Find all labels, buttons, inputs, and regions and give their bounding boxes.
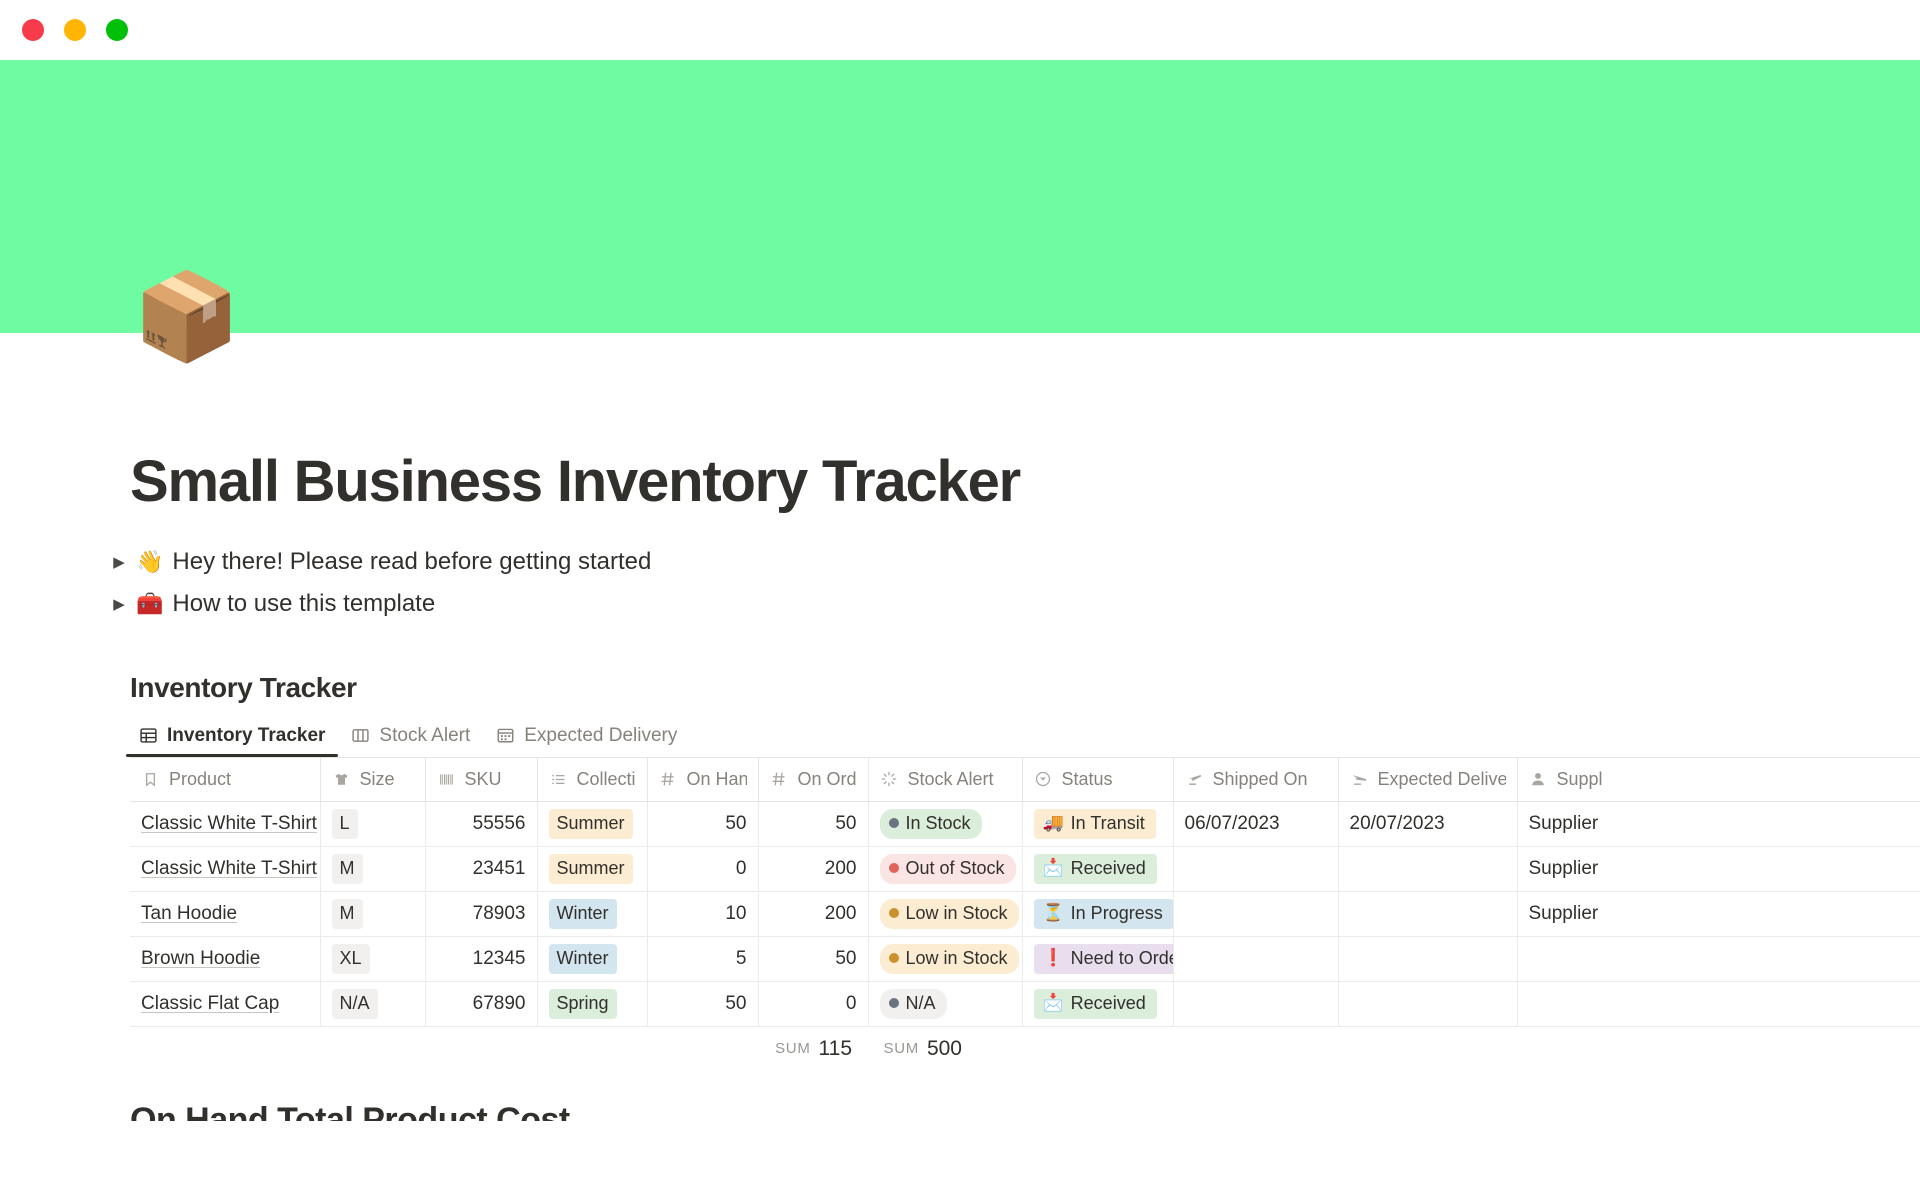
product-link[interactable]: Classic White T-Shirt: [141, 858, 317, 879]
status-dot-icon: [889, 818, 899, 828]
table-row[interactable]: Classic White T-ShirtL55556Summer5050In …: [130, 801, 1920, 846]
cell-on-hand[interactable]: 10: [647, 891, 758, 936]
column-header-label: Size: [360, 769, 395, 790]
stock-alert-tag: Low in Stock: [880, 899, 1019, 929]
column-header-supplier[interactable]: Suppl: [1517, 757, 1920, 801]
waving-hand-icon: 👋: [136, 549, 163, 575]
hash-icon: [770, 770, 789, 789]
table-row[interactable]: Brown HoodieXL12345Winter550Low in Stock…: [130, 936, 1920, 981]
chevron-right-icon[interactable]: ▶: [102, 553, 136, 571]
cell-stock-alert[interactable]: N/A: [868, 981, 1022, 1026]
cell-on-hand[interactable]: 50: [647, 801, 758, 846]
cell-on-hand[interactable]: 50: [647, 981, 758, 1026]
status-badge[interactable]: 📩Received: [1034, 854, 1157, 884]
status-dot-icon: [889, 908, 899, 918]
status-dot-icon: [889, 953, 899, 963]
cell-supplier[interactable]: [1517, 936, 1920, 981]
table-header-row: Product Size: [130, 757, 1920, 801]
cell-on-order[interactable]: 200: [758, 846, 868, 891]
column-header-stock-alert[interactable]: Stock Alert: [868, 757, 1022, 801]
cell-shipped-on[interactable]: [1173, 891, 1338, 936]
cell-expected-delivery[interactable]: [1338, 846, 1517, 891]
tab-label: Inventory Tracker: [167, 725, 325, 747]
cell-on-order[interactable]: 50: [758, 936, 868, 981]
barcode-icon: [437, 770, 456, 789]
table-row[interactable]: Tan HoodieM78903Winter10200Low in Stock⏳…: [130, 891, 1920, 936]
cell-sku[interactable]: 12345: [425, 936, 537, 981]
toggle-block-label: How to use this template: [172, 590, 435, 618]
close-window-button[interactable]: [22, 19, 44, 41]
product-link[interactable]: Classic White T-Shirt: [141, 813, 317, 834]
formula-icon: [880, 770, 899, 789]
column-header-label: Collecti...: [577, 769, 636, 790]
table-summary-row: Sum 115 Sum 500: [130, 1027, 1920, 1071]
cell-collection[interactable]: Winter: [537, 891, 647, 936]
cell-product[interactable]: Brown Hoodie: [130, 936, 320, 981]
collection-tag[interactable]: Winter: [549, 899, 617, 929]
cell-shipped-on[interactable]: [1173, 981, 1338, 1026]
size-tag[interactable]: XL: [332, 944, 370, 974]
person-icon: [1529, 770, 1548, 789]
cell-shipped-on[interactable]: 06/07/2023: [1173, 801, 1338, 846]
inventory-table: Product Size: [130, 757, 1920, 1027]
traffic-lights: [22, 19, 128, 41]
bookmark-icon: [141, 770, 160, 789]
cell-sku[interactable]: 55556: [425, 801, 537, 846]
tab-label: Stock Alert: [379, 725, 470, 747]
cell-on-hand[interactable]: 0: [647, 846, 758, 891]
product-link[interactable]: Tan Hoodie: [141, 903, 237, 924]
table-body: Classic White T-ShirtL55556Summer5050In …: [130, 801, 1920, 1026]
cell-sku[interactable]: 67890: [425, 981, 537, 1026]
tab-inventory-tracker[interactable]: Inventory Tracker: [126, 725, 338, 757]
column-header-label: Expected Delivery: [1378, 769, 1506, 790]
toggle-block-list: ▶ 👋 Hey there! Please read before gettin…: [130, 541, 1920, 625]
table-icon: [139, 726, 158, 745]
calendar-icon: [496, 726, 515, 745]
cell-status[interactable]: 🚚In Transit: [1022, 801, 1173, 846]
bottom-section-heading[interactable]: On Hand Total Product Cost: [130, 1101, 1920, 1121]
cell-collection[interactable]: Summer: [537, 801, 647, 846]
toolbox-icon: 🧰: [136, 591, 163, 617]
cell-size[interactable]: M: [320, 846, 425, 891]
tab-expected-delivery[interactable]: Expected Delivery: [483, 725, 690, 757]
cell-size[interactable]: XL: [320, 936, 425, 981]
cell-product[interactable]: Classic White T-Shirt: [130, 801, 320, 846]
cell-supplier[interactable]: Supplier: [1517, 801, 1920, 846]
select-icon: [1034, 770, 1053, 789]
stock-alert-tag: Low in Stock: [880, 944, 1019, 974]
cell-status[interactable]: ❗Need to Order: [1022, 936, 1173, 981]
status-badge[interactable]: ❗Need to Order: [1034, 944, 1174, 974]
database-view-tabs: Inventory Tracker Stock Alert: [130, 721, 1920, 757]
cell-expected-delivery[interactable]: 20/07/2023: [1338, 801, 1517, 846]
summary-value: 115: [819, 1037, 852, 1061]
status-badge[interactable]: 🚚In Transit: [1034, 809, 1156, 839]
hash-icon: [659, 770, 678, 789]
status-emoji-icon: ❗: [1043, 947, 1064, 969]
table-row[interactable]: Classic White T-ShirtM23451Summer0200Out…: [130, 846, 1920, 891]
cell-size[interactable]: L: [320, 801, 425, 846]
size-tag[interactable]: L: [332, 809, 358, 839]
tshirt-icon: [332, 770, 351, 789]
status-emoji-icon: ⏳: [1043, 902, 1064, 924]
cell-stock-alert[interactable]: Low in Stock: [868, 936, 1022, 981]
cell-product[interactable]: Classic Flat Cap: [130, 981, 320, 1026]
status-emoji-icon: 📩: [1043, 857, 1064, 879]
cell-on-order[interactable]: 0: [758, 981, 868, 1026]
column-header-label: Product: [169, 769, 231, 790]
toggle-block-read-first[interactable]: ▶ 👋 Hey there! Please read before gettin…: [130, 541, 1920, 583]
cell-size[interactable]: N/A: [320, 981, 425, 1026]
cell-collection[interactable]: Winter: [537, 936, 647, 981]
database-title[interactable]: Inventory Tracker: [130, 672, 1920, 704]
column-header-shipped-on[interactable]: Shipped On: [1173, 757, 1338, 801]
column-header-label: SKU: [465, 769, 502, 790]
summary-on-hand[interactable]: Sum 115: [752, 1027, 863, 1071]
summary-label: Sum: [775, 1040, 810, 1057]
status-dot-icon: [889, 863, 899, 873]
status-emoji-icon: 📩: [1043, 992, 1064, 1014]
table-row[interactable]: Classic Flat CapN/A67890Spring500N/A📩Rec…: [130, 981, 1920, 1026]
column-header-label: On Hand: [687, 769, 747, 790]
cell-shipped-on[interactable]: [1173, 846, 1338, 891]
column-header-on-order[interactable]: On Order: [758, 757, 868, 801]
cell-on-hand[interactable]: 5: [647, 936, 758, 981]
product-link[interactable]: Brown Hoodie: [141, 948, 260, 969]
product-link[interactable]: Classic Flat Cap: [141, 993, 279, 1014]
cell-on-order[interactable]: 200: [758, 891, 868, 936]
cell-supplier[interactable]: [1517, 981, 1920, 1026]
minimize-window-button[interactable]: [64, 19, 86, 41]
cell-stock-alert[interactable]: In Stock: [868, 801, 1022, 846]
cell-sku[interactable]: 23451: [425, 846, 537, 891]
cell-status[interactable]: ⏳In Progress: [1022, 891, 1173, 936]
column-header-label: Suppl: [1557, 769, 1603, 790]
page-cover-image[interactable]: [0, 60, 1920, 333]
collection-tag[interactable]: Spring: [549, 989, 617, 1019]
summary-label: Sum: [884, 1040, 919, 1057]
cell-product[interactable]: Classic White T-Shirt: [130, 846, 320, 891]
cell-shipped-on[interactable]: [1173, 936, 1338, 981]
status-badge[interactable]: ⏳In Progress: [1034, 899, 1174, 929]
stock-alert-tag: In Stock: [880, 809, 982, 839]
column-header-label: Shipped On: [1213, 769, 1308, 790]
cell-product[interactable]: Tan Hoodie: [130, 891, 320, 936]
plane-down-icon: [1350, 770, 1369, 789]
column-header-collection[interactable]: Collecti...: [537, 757, 647, 801]
column-header-label: Status: [1062, 769, 1113, 790]
cell-size[interactable]: M: [320, 891, 425, 936]
list-icon: [549, 770, 568, 789]
column-header-product[interactable]: Product: [130, 757, 320, 801]
column-header-on-hand[interactable]: On Hand: [647, 757, 758, 801]
stock-alert-tag: N/A: [880, 989, 947, 1019]
column-header-label: On Order: [798, 769, 857, 790]
cell-status[interactable]: 📩Received: [1022, 846, 1173, 891]
tab-label: Expected Delivery: [524, 725, 677, 747]
column-header-sku[interactable]: SKU: [425, 757, 537, 801]
cell-status[interactable]: 📩Received: [1022, 981, 1173, 1026]
window-titlebar: [0, 0, 1920, 60]
cell-collection[interactable]: Spring: [537, 981, 647, 1026]
toggle-block-how-to-use[interactable]: ▶ 🧰 How to use this template: [130, 583, 1920, 625]
column-header-expected-delivery[interactable]: Expected Delivery: [1338, 757, 1517, 801]
cell-stock-alert[interactable]: Out of Stock: [868, 846, 1022, 891]
status-dot-icon: [889, 998, 899, 1008]
size-tag[interactable]: N/A: [332, 989, 378, 1019]
cell-expected-delivery[interactable]: [1338, 936, 1517, 981]
stock-alert-tag: Out of Stock: [880, 854, 1016, 884]
size-tag[interactable]: M: [332, 854, 363, 884]
cell-collection[interactable]: Summer: [537, 846, 647, 891]
status-emoji-icon: 🚚: [1043, 812, 1064, 834]
cell-sku[interactable]: 78903: [425, 891, 537, 936]
page-icon[interactable]: 📦: [133, 267, 233, 367]
collection-tag[interactable]: Summer: [549, 854, 633, 884]
cell-supplier[interactable]: Supplier: [1517, 846, 1920, 891]
collection-tag[interactable]: Summer: [549, 809, 633, 839]
toggle-block-label: Hey there! Please read before getting st…: [172, 548, 651, 576]
size-tag[interactable]: M: [332, 899, 363, 929]
maximize-window-button[interactable]: [106, 19, 128, 41]
plane-up-icon: [1185, 770, 1204, 789]
summary-value: 500: [927, 1037, 962, 1061]
collection-tag[interactable]: Winter: [549, 944, 617, 974]
board-icon: [351, 726, 370, 745]
cell-expected-delivery[interactable]: [1338, 891, 1517, 936]
summary-on-order[interactable]: Sum 500: [863, 1027, 973, 1071]
cell-on-order[interactable]: 50: [758, 801, 868, 846]
page-content: 📦 Small Business Inventory Tracker ▶ 👋 H…: [0, 333, 1920, 1121]
column-header-label: Stock Alert: [908, 769, 994, 790]
column-header-status[interactable]: Status: [1022, 757, 1173, 801]
page-title[interactable]: Small Business Inventory Tracker: [130, 333, 1920, 514]
chevron-right-icon[interactable]: ▶: [102, 595, 136, 613]
inline-database: Inventory Tracker Inventory Tracker: [130, 672, 1920, 1121]
cell-supplier[interactable]: Supplier: [1517, 891, 1920, 936]
status-badge[interactable]: 📩Received: [1034, 989, 1157, 1019]
column-header-size[interactable]: Size: [320, 757, 425, 801]
cell-expected-delivery[interactable]: [1338, 981, 1517, 1026]
tab-stock-alert[interactable]: Stock Alert: [338, 725, 483, 757]
cell-stock-alert[interactable]: Low in Stock: [868, 891, 1022, 936]
